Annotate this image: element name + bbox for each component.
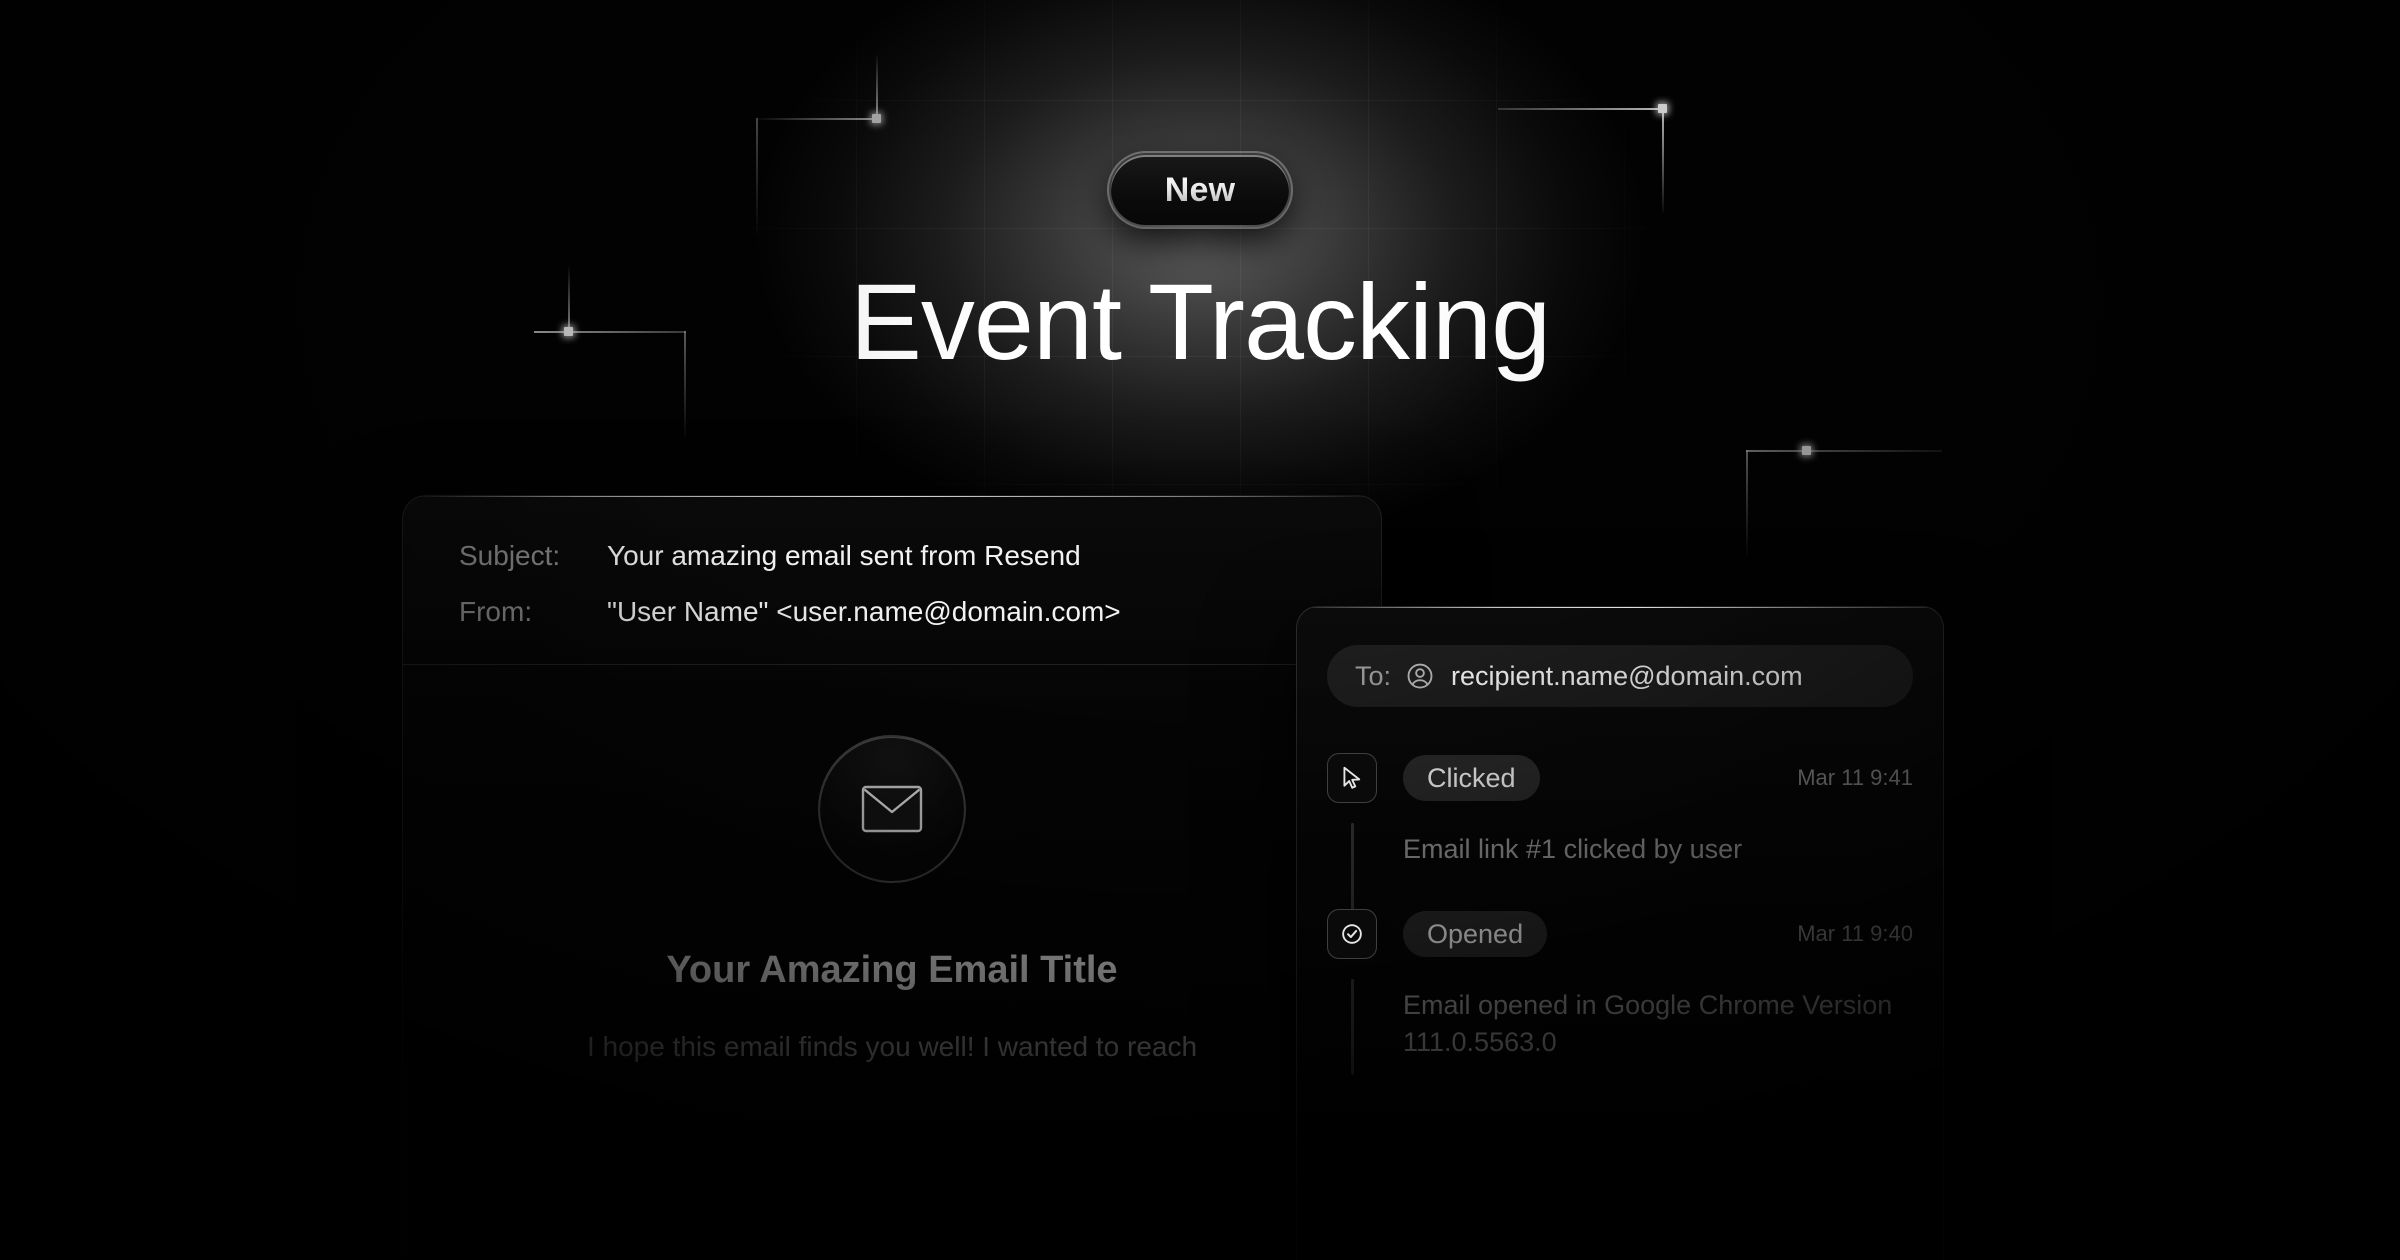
email-body: Your Amazing Email Title I hope this ema…	[403, 665, 1381, 1068]
timeline-connector	[1351, 979, 1354, 1075]
event-item-clicked[interactable]: Clicked Mar 11 9:41 Email link #1 clicke…	[1327, 753, 1913, 885]
email-from-value: "User Name" <user.name@domain.com>	[607, 596, 1121, 628]
event-description: Email opened in Google Chrome Version 11…	[1403, 987, 1913, 1060]
event-content: Clicked Mar 11 9:41 Email link #1 clicke…	[1377, 753, 1913, 867]
corner-bracket-left-stem	[756, 118, 768, 238]
email-preview-card: Subject: Your amazing email sent from Re…	[402, 495, 1382, 1255]
recipient-pill[interactable]: To: recipient.name@domain.com	[1327, 645, 1913, 707]
page-title: Event Tracking	[0, 262, 2400, 383]
cursor-arrow-icon	[1327, 753, 1377, 803]
email-subject-label: Subject:	[459, 540, 607, 572]
email-from-label: From:	[459, 596, 607, 628]
email-body-title: Your Amazing Email Title	[459, 949, 1325, 992]
event-item-opened[interactable]: Opened Mar 11 9:40 Email opened in Googl…	[1327, 909, 1913, 1078]
email-from-row: From: "User Name" <user.name@domain.com>	[459, 596, 1325, 628]
recipient-label: To:	[1355, 661, 1391, 692]
email-subject-value: Your amazing email sent from Resend	[607, 540, 1081, 572]
page-root: New Event Tracking Subject: Your amazing…	[0, 0, 2400, 1260]
event-timestamp: Mar 11 9:41	[1797, 765, 1913, 791]
event-header: Opened Mar 11 9:40	[1403, 909, 1913, 959]
event-content: Opened Mar 11 9:40 Email opened in Googl…	[1377, 909, 1913, 1060]
new-badge[interactable]: New	[1109, 153, 1291, 227]
status-badge: Clicked	[1403, 755, 1540, 801]
user-circle-icon	[1405, 661, 1435, 691]
event-description: Email link #1 clicked by user	[1403, 831, 1913, 867]
status-badge: Opened	[1403, 911, 1547, 957]
corner-bracket-right-middle	[1736, 438, 1946, 558]
email-body-paragraph: I hope this email finds you well! I want…	[459, 1026, 1325, 1068]
check-circle-icon	[1327, 909, 1377, 959]
recipient-email: recipient.name@domain.com	[1451, 661, 1803, 692]
corner-bracket-top-right	[1498, 82, 1688, 212]
event-timeline: Clicked Mar 11 9:41 Email link #1 clicke…	[1327, 753, 1913, 1078]
events-bottom-fade	[1297, 1050, 1943, 1260]
timeline-connector	[1351, 823, 1354, 919]
event-icon-column	[1327, 909, 1377, 1060]
event-tracking-panel: To: recipient.name@domain.com	[1296, 606, 1944, 1260]
event-header: Clicked Mar 11 9:41	[1403, 753, 1913, 803]
event-icon-column	[1327, 753, 1377, 867]
event-timestamp: Mar 11 9:40	[1797, 921, 1913, 947]
email-bottom-fade	[403, 1055, 1381, 1255]
corner-bracket-top-left	[758, 55, 888, 175]
envelope-icon	[818, 735, 966, 883]
email-subject-row: Subject: Your amazing email sent from Re…	[459, 540, 1325, 572]
new-badge-label: New	[1165, 171, 1236, 210]
email-header: Subject: Your amazing email sent from Re…	[403, 496, 1381, 664]
